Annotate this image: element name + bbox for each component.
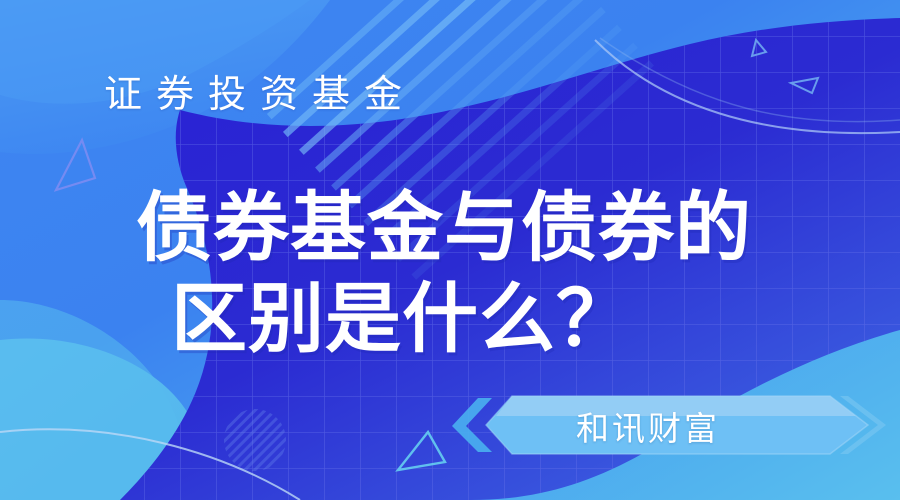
- brand-ribbon: 和讯财富: [470, 392, 870, 460]
- brand-name: 和讯财富: [470, 392, 800, 460]
- poster-subtitle: 证券投资基金: [104, 74, 416, 117]
- headline-line-2: 区别是什么？: [0, 274, 900, 365]
- headline-line-1: 债券基金与债券的: [0, 183, 900, 274]
- poster-headline: 债券基金与债券的 区别是什么？: [0, 183, 900, 365]
- poster-canvas: 证券投资基金 债券基金与债券的 区别是什么？ 和讯财富: [0, 0, 900, 500]
